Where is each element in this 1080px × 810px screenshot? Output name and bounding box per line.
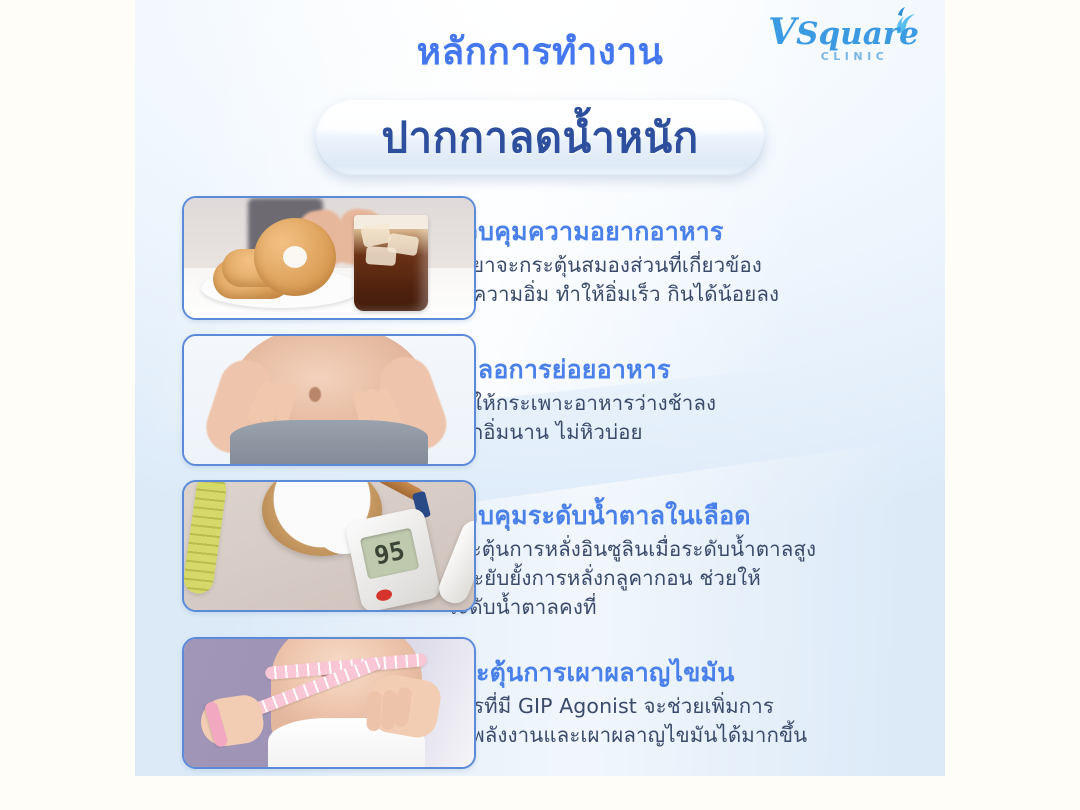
screenshot-stage: หลักการทำงาน VSquare CLINIC ปากกาลดน้ำหน… <box>0 0 1080 810</box>
benefit-row: ควบคุมความอยากอาหาร ตัวยาจะกระตุ้นสมองส่… <box>135 196 945 320</box>
benefit-title: กระตุ้นการเผาผลาญไขมัน <box>447 657 927 688</box>
benefit-body-line: ใช้พลังงานและเผาผลาญไขมันได้มากขึ้น <box>447 721 927 750</box>
meter-button <box>376 588 394 602</box>
benefit-body-line: กับความอิ่ม ทำให้อิ่มเร็ว กินได้น้อยลง <box>447 280 927 309</box>
subtitle-pill: ปากกาลดน้ำหนัก <box>315 100 765 176</box>
meter-display: 95 <box>360 528 420 580</box>
brand-letter-v: V <box>768 11 796 53</box>
benefit-row: ชะลอการย่อยอาหาร ทำให้กระเพาะอาหารว่างช้… <box>135 334 945 466</box>
thumbnail-container <box>135 196 447 320</box>
benefit-title: ควบคุมความอยากอาหาร <box>447 216 927 247</box>
glucose-meter-icon: 95 <box>345 507 442 612</box>
benefit-copy: ชะลอการย่อยอาหาร ทำให้กระเพาะอาหารว่างช้… <box>447 334 945 447</box>
benefit-body-line: ระดับน้ำตาลคงที่ <box>447 593 927 622</box>
brand-logo: VSquare CLINIC <box>756 14 931 80</box>
benefit-body-line: ตัวยาจะกระตุ้นสมองส่วนที่เกี่ยวข้อง <box>447 251 927 280</box>
donuts-and-cola-refusal-photo <box>182 196 476 320</box>
benefit-body: สูตรที่มี GIP Agonist จะช่วยเพิ่มการ ใช้… <box>447 692 927 750</box>
benefit-copy: กระตุ้นการเผาผลาญไขมัน สูตรที่มี GIP Ago… <box>447 637 945 750</box>
benefit-list: ควบคุมความอยากอาหาร ตัวยาจะกระตุ้นสมองส่… <box>135 196 945 776</box>
brand-wordmark: VSquare <box>756 14 931 52</box>
benefit-body: ทำให้กระเพาะอาหารว่างช้าลง รู้สึกอิ่มนาน… <box>447 389 927 447</box>
benefit-body-line: รู้สึกอิ่มนาน ไม่หิวบ่อย <box>447 418 927 447</box>
benefit-body-line: สูตรที่มี GIP Agonist จะช่วยเพิ่มการ <box>447 692 927 721</box>
meter-reading: 95 <box>360 528 420 580</box>
benefit-body-line: กระตุ้นการหลั่งอินซูลินเมื่อระดับน้ำตาลส… <box>447 535 927 564</box>
subtitle-text: ปากกาลดน้ำหนัก <box>381 117 698 159</box>
benefit-copy: ควบคุมความอยากอาหาร ตัวยาจะกระตุ้นสมองส่… <box>447 196 945 309</box>
benefit-body-line: และยับยั้งการหลั่งกลูคากอน ช่วยให้ <box>447 564 927 593</box>
benefit-title: ชะลอการย่อยอาหาร <box>447 354 927 385</box>
benefit-body-line: ทำให้กระเพาะอาหารว่างช้าลง <box>447 389 927 418</box>
woman-abdomen-hands-photo <box>182 334 476 466</box>
thumbnail-container <box>135 334 447 466</box>
benefit-row: กระตุ้นการเผาผลาญไขมัน สูตรที่มี GIP Ago… <box>135 637 945 769</box>
infographic-poster: หลักการทำงาน VSquare CLINIC ปากกาลดน้ำหน… <box>135 0 945 776</box>
benefit-body: ตัวยาจะกระตุ้นสมองส่วนที่เกี่ยวข้อง กับค… <box>447 251 927 309</box>
thumbnail-container <box>135 637 447 769</box>
benefit-body: กระตุ้นการหลั่งอินซูลินเมื่อระดับน้ำตาลส… <box>447 535 927 622</box>
brand-word: Square <box>796 16 919 52</box>
waist-measuring-tape-photo <box>182 637 476 769</box>
glucose-meter-and-sugar-photo: 95 <box>182 480 476 612</box>
thumbnail-container: 95 <box>135 480 447 612</box>
benefit-row: 95 ควบคุมระดับน้ำตาลในเลือด กระตุ้นการห <box>135 480 945 623</box>
benefit-title: ควบคุมระดับน้ำตาลในเลือด <box>447 500 927 531</box>
benefit-copy: ควบคุมระดับน้ำตาลในเลือด กระตุ้นการหลั่ง… <box>447 480 945 623</box>
